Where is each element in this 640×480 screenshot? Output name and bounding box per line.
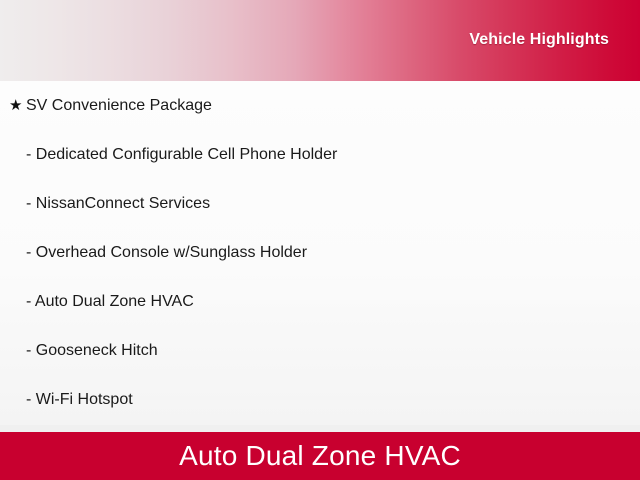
footer-caption: Auto Dual Zone HVAC <box>179 440 461 472</box>
list-item: - Overhead Console w/Sunglass Holder <box>0 243 640 292</box>
footer-caption-bar: Auto Dual Zone HVAC <box>0 432 640 480</box>
list-item: - Gooseneck Hitch <box>0 341 640 390</box>
header-title: Vehicle Highlights <box>469 31 609 49</box>
footer-divider <box>0 425 640 432</box>
list-item-label: - NissanConnect Services <box>26 194 210 214</box>
highlight-list: ★ SV Convenience Package - Dedicated Con… <box>0 96 640 425</box>
header-banner: Vehicle Highlights <box>0 0 640 81</box>
list-item-label: - Overhead Console w/Sunglass Holder <box>26 243 307 263</box>
list-item-label: SV Convenience Package <box>26 96 212 116</box>
list-item-label: - Wi-Fi Hotspot <box>26 390 133 410</box>
highlights-content-area: ★ SV Convenience Package - Dedicated Con… <box>0 81 640 425</box>
star-bullet-icon: ★ <box>9 96 26 116</box>
list-item: ★ SV Convenience Package <box>0 96 640 145</box>
list-item-label: - Dedicated Configurable Cell Phone Hold… <box>26 145 337 165</box>
list-item: - NissanConnect Services <box>0 194 640 243</box>
vehicle-highlights-slide: Vehicle Highlights ★ SV Convenience Pack… <box>0 0 640 480</box>
list-item-label: - Auto Dual Zone HVAC <box>26 292 194 312</box>
list-item: - Wi-Fi Hotspot <box>0 390 640 425</box>
list-item: - Dedicated Configurable Cell Phone Hold… <box>0 145 640 194</box>
list-item-label: - Gooseneck Hitch <box>26 341 158 361</box>
list-item: - Auto Dual Zone HVAC <box>0 292 640 341</box>
